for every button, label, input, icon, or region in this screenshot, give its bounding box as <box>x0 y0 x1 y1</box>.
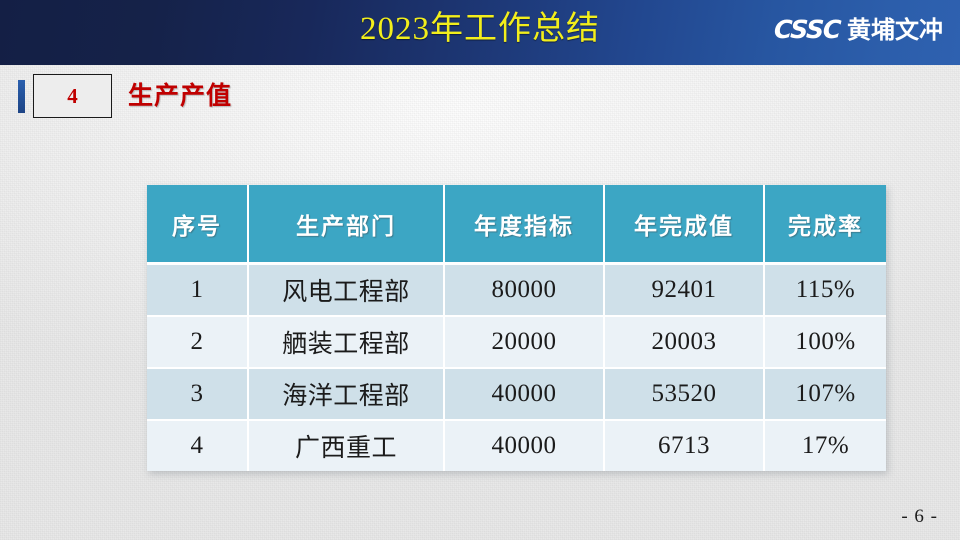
cell-rate: 17% <box>764 420 886 471</box>
table-row: 2 舾装工程部 20000 20003 100% <box>147 316 886 368</box>
column-header-actual: 年完成值 <box>604 185 764 264</box>
cell-rate: 107% <box>764 368 886 420</box>
slide-canvas: 2023年工作总结 CSSC 黄埔文冲 4 生产产值 序号 生产部门 年度指标 … <box>0 0 960 540</box>
cell-target: 40000 <box>444 420 604 471</box>
cell-index: 3 <box>147 368 248 420</box>
section-heading: 4 生产产值 <box>0 74 232 118</box>
cell-target: 40000 <box>444 368 604 420</box>
cell-rate: 100% <box>764 316 886 368</box>
production-output-table: 序号 生产部门 年度指标 年完成值 完成率 1 风电工程部 80000 9240… <box>147 185 886 471</box>
cssc-logo: CSSC 黄埔文冲 <box>774 15 943 45</box>
cell-dept: 广西重工 <box>248 420 444 471</box>
column-header-rate: 完成率 <box>764 185 886 264</box>
cell-index: 4 <box>147 420 248 471</box>
table-row: 3 海洋工程部 40000 53520 107% <box>147 368 886 420</box>
cell-rate: 115% <box>764 264 886 317</box>
cell-index: 2 <box>147 316 248 368</box>
header-bar: 2023年工作总结 CSSC 黄埔文冲 <box>0 0 960 65</box>
cell-index: 1 <box>147 264 248 317</box>
cell-dept: 风电工程部 <box>248 264 444 317</box>
column-header-dept: 生产部门 <box>248 185 444 264</box>
table-row: 4 广西重工 40000 6713 17% <box>147 420 886 471</box>
cell-target: 20000 <box>444 316 604 368</box>
cell-dept: 舾装工程部 <box>248 316 444 368</box>
table-header-row: 序号 生产部门 年度指标 年完成值 完成率 <box>147 185 886 264</box>
column-header-index: 序号 <box>147 185 248 264</box>
logo-chinese-text: 黄埔文冲 <box>847 15 943 45</box>
section-number-box: 4 <box>33 74 112 118</box>
table-head: 序号 生产部门 年度指标 年完成值 完成率 <box>147 185 886 264</box>
cell-actual: 92401 <box>604 264 764 317</box>
data-table: 序号 生产部门 年度指标 年完成值 完成率 1 风电工程部 80000 9240… <box>147 185 886 471</box>
cell-target: 80000 <box>444 264 604 317</box>
logo-latin-text: CSSC <box>773 15 841 45</box>
table-row: 1 风电工程部 80000 92401 115% <box>147 264 886 317</box>
section-accent-bar <box>18 80 25 113</box>
section-title: 生产产值 <box>128 80 232 112</box>
column-header-target: 年度指标 <box>444 185 604 264</box>
cell-dept: 海洋工程部 <box>248 368 444 420</box>
table-body: 1 风电工程部 80000 92401 115% 2 舾装工程部 20000 2… <box>147 264 886 472</box>
cell-actual: 6713 <box>604 420 764 471</box>
cell-actual: 53520 <box>604 368 764 420</box>
section-number: 4 <box>67 84 78 108</box>
cell-actual: 20003 <box>604 316 764 368</box>
page-number: - 6 - <box>901 506 938 528</box>
